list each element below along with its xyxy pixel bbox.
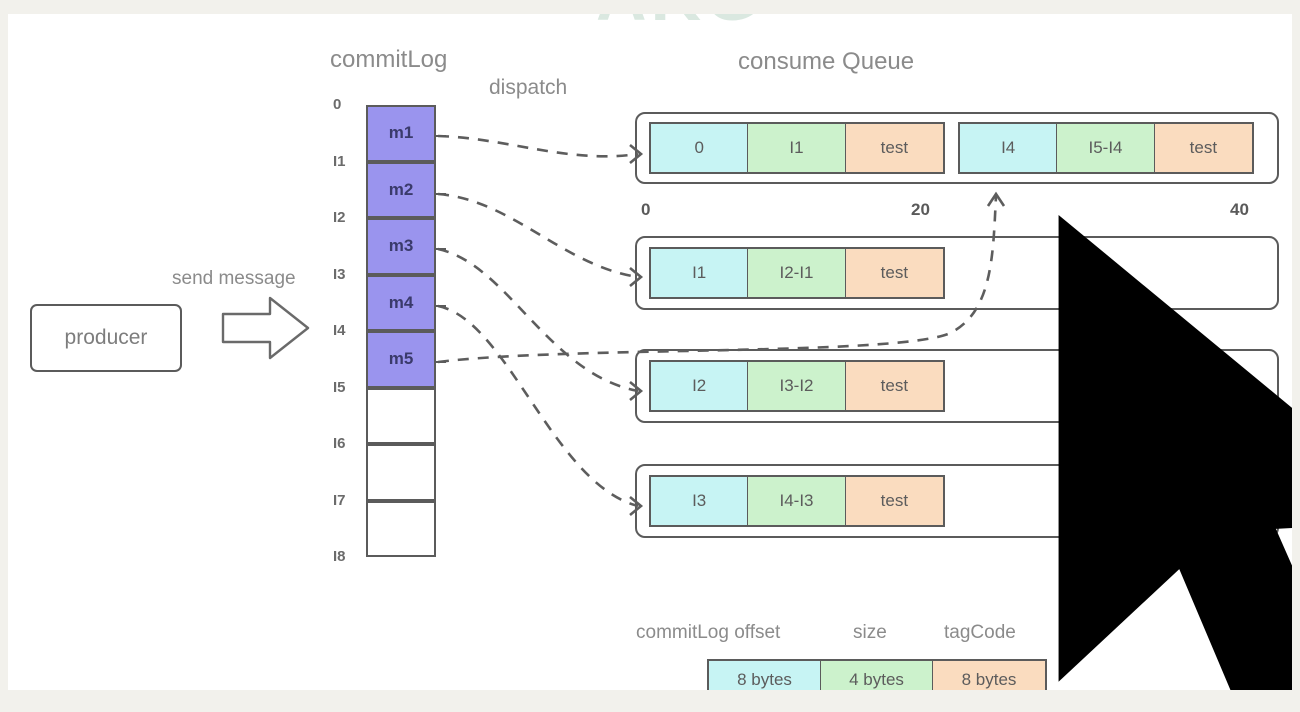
send-message-label: send message [172,268,296,290]
commitlog-slot-m3: m3 [366,218,436,275]
commitlog-message-label: m4 [389,293,414,313]
queue-2-entry-1-field-1: I1 [651,249,748,297]
commitlog-message-label: m5 [389,349,414,369]
commitlog-offset-I6: I6 [333,435,346,452]
queue-4-entry-1-field-1: I3 [651,477,748,525]
producer-label: producer [65,326,148,350]
legend-header-tagcode: tagCode [944,622,1016,644]
dispatch-arrow-m1 [438,136,638,156]
queue-4-entry-1-field-2: I4-I3 [748,477,845,525]
consume-queue-2: I1I2-I1test [635,236,1279,310]
queue-axis-tick-40: 40 [1230,200,1249,220]
send-message-arrow [223,298,308,358]
queue-1-entry-2: I4I5-I4test [958,122,1254,174]
commitlog-message-label: m3 [389,236,414,256]
queue-1-entry-1-field-2: I1 [748,124,845,172]
queue-3-entry-1-field-3: test [846,362,943,410]
commitlog-column: m1m2m3m4m5 [366,105,436,561]
diagram-canvas: AKG AKG commitLog dispatch consume Queue… [8,14,1292,690]
queue-4-entry-1: I3I4-I3test [649,475,945,527]
commitlog-slot-empty-6 [366,388,436,445]
producer-box: producer [30,304,182,372]
legend-header-size: size [853,622,887,644]
queue-1-entry-1: 0I1test [649,122,945,174]
consume-queue-title: consume Queue [738,48,914,76]
consume-queue-3: I2I3-I2test [635,349,1279,423]
commitlog-slot-m1: m1 [366,105,436,162]
queue-2-entry-1-field-2: I2-I1 [748,249,845,297]
commitlog-offset-I7: I7 [333,492,346,509]
commitlog-slot-empty-8 [366,501,436,558]
legend-cell-2: 4 bytes [821,661,933,690]
legend-header-offset: commitLog offset [636,622,780,644]
queue-4-entry-1-field-3: test [846,477,943,525]
legend-cell-3: 8 bytes [933,661,1045,690]
queue-1-entry-1-field-1: 0 [651,124,748,172]
commitlog-slot-m4: m4 [366,275,436,332]
consume-queue-1: 0I1testI4I5-I4test [635,112,1279,184]
legend-cell-1: 8 bytes [709,661,821,690]
commitlog-offset-I4: I4 [333,322,346,339]
commitlog-message-label: m2 [389,180,414,200]
queue-3-entry-1: I2I3-I2test [649,360,945,412]
queue-3-entry-1-field-2: I3-I2 [748,362,845,410]
commitlog-slot-m2: m2 [366,162,436,219]
commitlog-offset-I1: I1 [333,153,346,170]
queue-3-entry-1-field-1: I2 [651,362,748,410]
queue-axis-tick-20: 20 [911,200,930,220]
commitlog-offset-0: 0 [333,96,341,113]
queue-1-entry-2-field-2: I5-I4 [1057,124,1154,172]
commitlog-slot-empty-7 [366,444,436,501]
legend-row: 8 bytes4 bytes8 bytes [707,659,1047,690]
queue-1-entry-1-field-3: test [846,124,943,172]
dispatch-arrow-m2 [438,194,638,277]
dispatch-arrow-m4 [438,306,638,506]
commitlog-offset-I3: I3 [333,266,346,283]
commitlog-message-label: m1 [389,123,414,143]
dispatch-arrow-m3 [438,249,638,391]
commitlog-offset-I2: I2 [333,209,346,226]
queue-2-entry-1: I1I2-I1test [649,247,945,299]
commitlog-slot-m5: m5 [366,331,436,388]
commitlog-title: commitLog [330,46,447,74]
dispatch-label: dispatch [489,76,567,100]
queue-1-entry-2-field-1: I4 [960,124,1057,172]
queue-2-entry-1-field-3: test [846,249,943,297]
queue-axis-tick-0: 0 [641,200,650,220]
watermark-top: AKG [596,14,764,36]
queue-1-entry-2-field-3: test [1155,124,1252,172]
commitlog-offset-I8: I8 [333,548,346,565]
consume-queue-4: I3I4-I3test [635,464,1279,538]
commitlog-offset-I5: I5 [333,379,346,396]
